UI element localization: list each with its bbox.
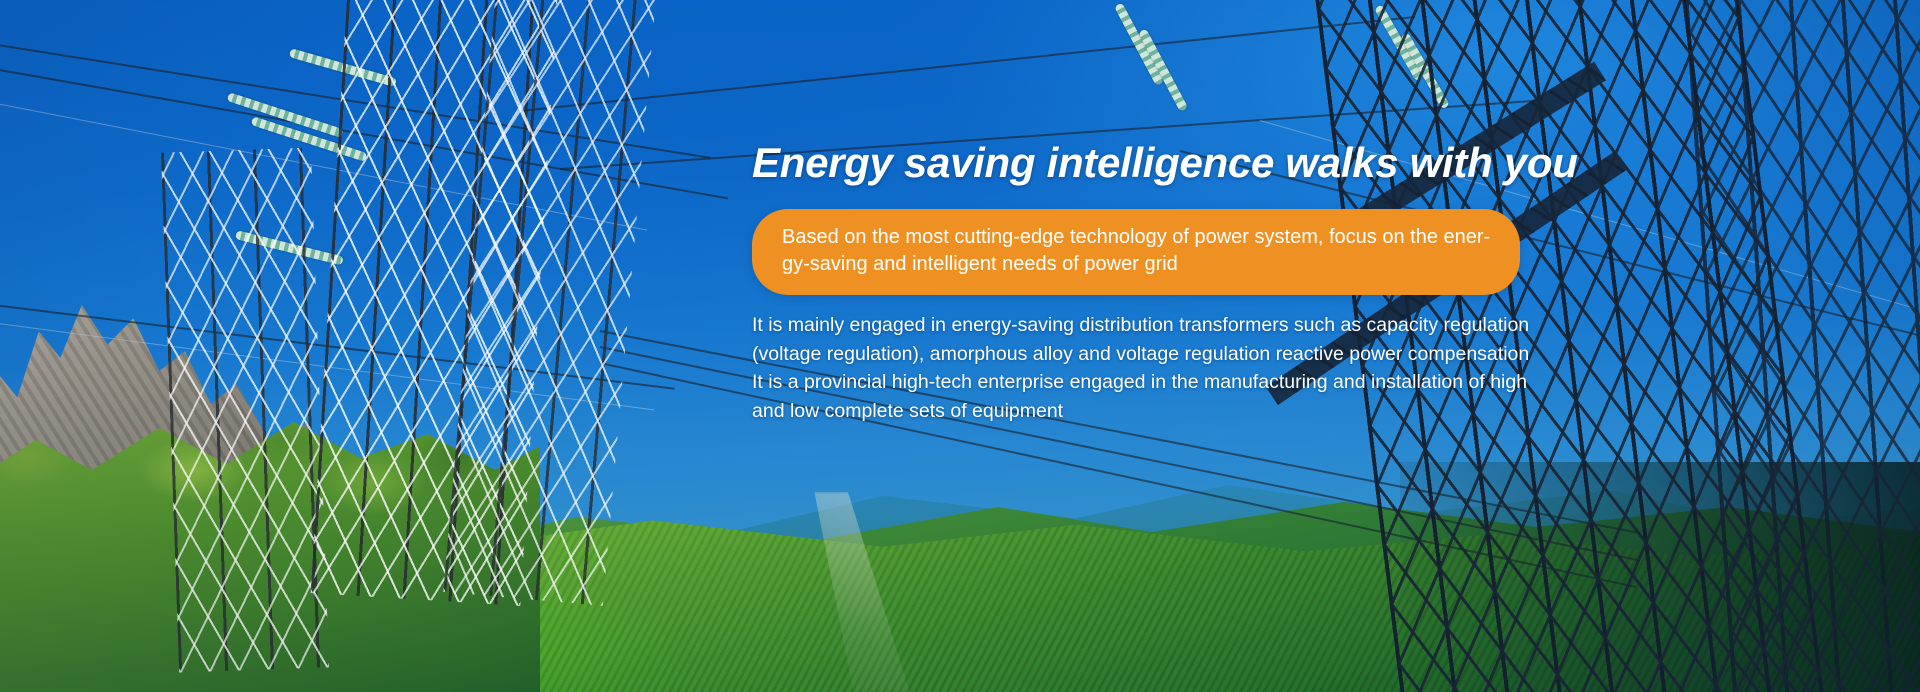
hero-banner: Energy saving intelligence walks with yo… (0, 0, 1920, 692)
transmission-tower-left (161, 148, 329, 673)
description-paragraph: It is mainly engaged in energy-saving di… (752, 311, 1552, 368)
page-title: Energy saving intelligence walks with yo… (752, 140, 1552, 186)
tagline-callout: Based on the most cutting-edge technolog… (752, 209, 1520, 295)
description-block: It is mainly engaged in energy-saving di… (752, 311, 1552, 425)
description-paragraph: It is a provincial high-tech enterprise … (752, 368, 1552, 425)
hero-content: Energy saving intelligence walks with yo… (752, 140, 1552, 425)
